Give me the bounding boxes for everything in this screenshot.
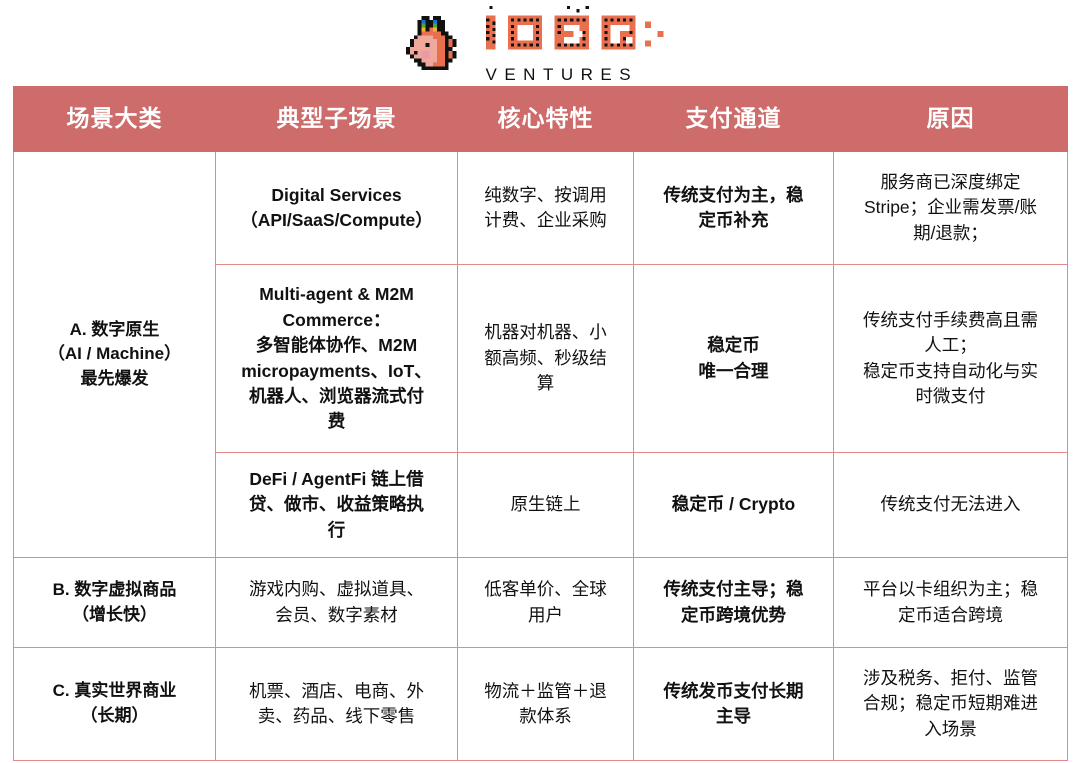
brand-tagline: VENTURES [483, 66, 639, 83]
channel-cell: 传统支付主导；稳 定币跨境优势 [634, 558, 834, 648]
table-row: B. 数字虚拟商品 （增长快） 游戏内购、虚拟道具、 会员、数字素材 低客单价、… [14, 558, 1068, 648]
subscene-cell: 机票、酒店、电商、外 卖、药品、线下零售 [216, 648, 458, 761]
subscene-cell: DeFi / AgentFi 链上借 贷、做市、收益策略执 行 [216, 453, 458, 558]
brand-header: VENTURES [0, 0, 1080, 86]
reason-cell: 服务商已深度绑定 Stripe；企业需发票/账 期/退款； [834, 152, 1068, 265]
scenario-matrix-table: 场景大类 典型子场景 核心特性 支付通道 原因 A. 数字原生 （AI / Ma… [13, 86, 1068, 761]
column-header-feature: 核心特性 [458, 87, 634, 152]
iosg-llama-logo-icon [405, 12, 469, 74]
reason-cell: 涉及税务、拒付、监管 合规；稳定币短期难进 入场景 [834, 648, 1068, 761]
channel-cell: 传统发币支付长期 主导 [634, 648, 834, 761]
feature-cell: 机器对机器、小 额高频、秒级结 算 [458, 265, 634, 453]
table-row: C. 真实世界商业 （长期） 机票、酒店、电商、外 卖、药品、线下零售 物流＋监… [14, 648, 1068, 761]
reason-cell: 传统支付无法进入 [834, 453, 1068, 558]
subscene-cell: Multi-agent & M2M Commerce： 多智能体协作、M2M m… [216, 265, 458, 453]
reason-cell: 平台以卡组织为主；稳 定币适合跨境 [834, 558, 1068, 648]
table-row: A. 数字原生 （AI / Machine） 最先爆发 Digital Serv… [14, 152, 1068, 265]
category-cell-c: C. 真实世界商业 （长期） [14, 648, 216, 761]
column-header-channel: 支付通道 [634, 87, 834, 152]
channel-cell: 传统支付为主，稳 定币补充 [634, 152, 834, 265]
feature-cell: 物流＋监管＋退 款体系 [458, 648, 634, 761]
channel-cell: 稳定币 唯一合理 [634, 265, 834, 453]
column-header-category: 场景大类 [14, 87, 216, 152]
reason-cell: 传统支付手续费高且需 人工； 稳定币支持自动化与实 时微支付 [834, 265, 1068, 453]
subscene-cell: 游戏内购、虚拟道具、 会员、数字素材 [216, 558, 458, 648]
table-header-row: 场景大类 典型子场景 核心特性 支付通道 原因 [14, 87, 1068, 152]
category-cell-a: A. 数字原生 （AI / Machine） 最先爆发 [14, 152, 216, 558]
iosg-wordmark-icon [483, 3, 676, 64]
subscene-cell: Digital Services （API/SaaS/Compute） [216, 152, 458, 265]
scenario-matrix-container: 场景大类 典型子场景 核心特性 支付通道 原因 A. 数字原生 （AI / Ma… [13, 86, 1067, 761]
category-cell-b: B. 数字虚拟商品 （增长快） [14, 558, 216, 648]
feature-cell: 原生链上 [458, 453, 634, 558]
column-header-subscene: 典型子场景 [216, 87, 458, 152]
column-header-reason: 原因 [834, 87, 1068, 152]
feature-cell: 低客单价、全球 用户 [458, 558, 634, 648]
feature-cell: 纯数字、按调用 计费、企业采购 [458, 152, 634, 265]
channel-cell: 稳定币 / Crypto [634, 453, 834, 558]
brand-wordmark: VENTURES [483, 3, 676, 83]
